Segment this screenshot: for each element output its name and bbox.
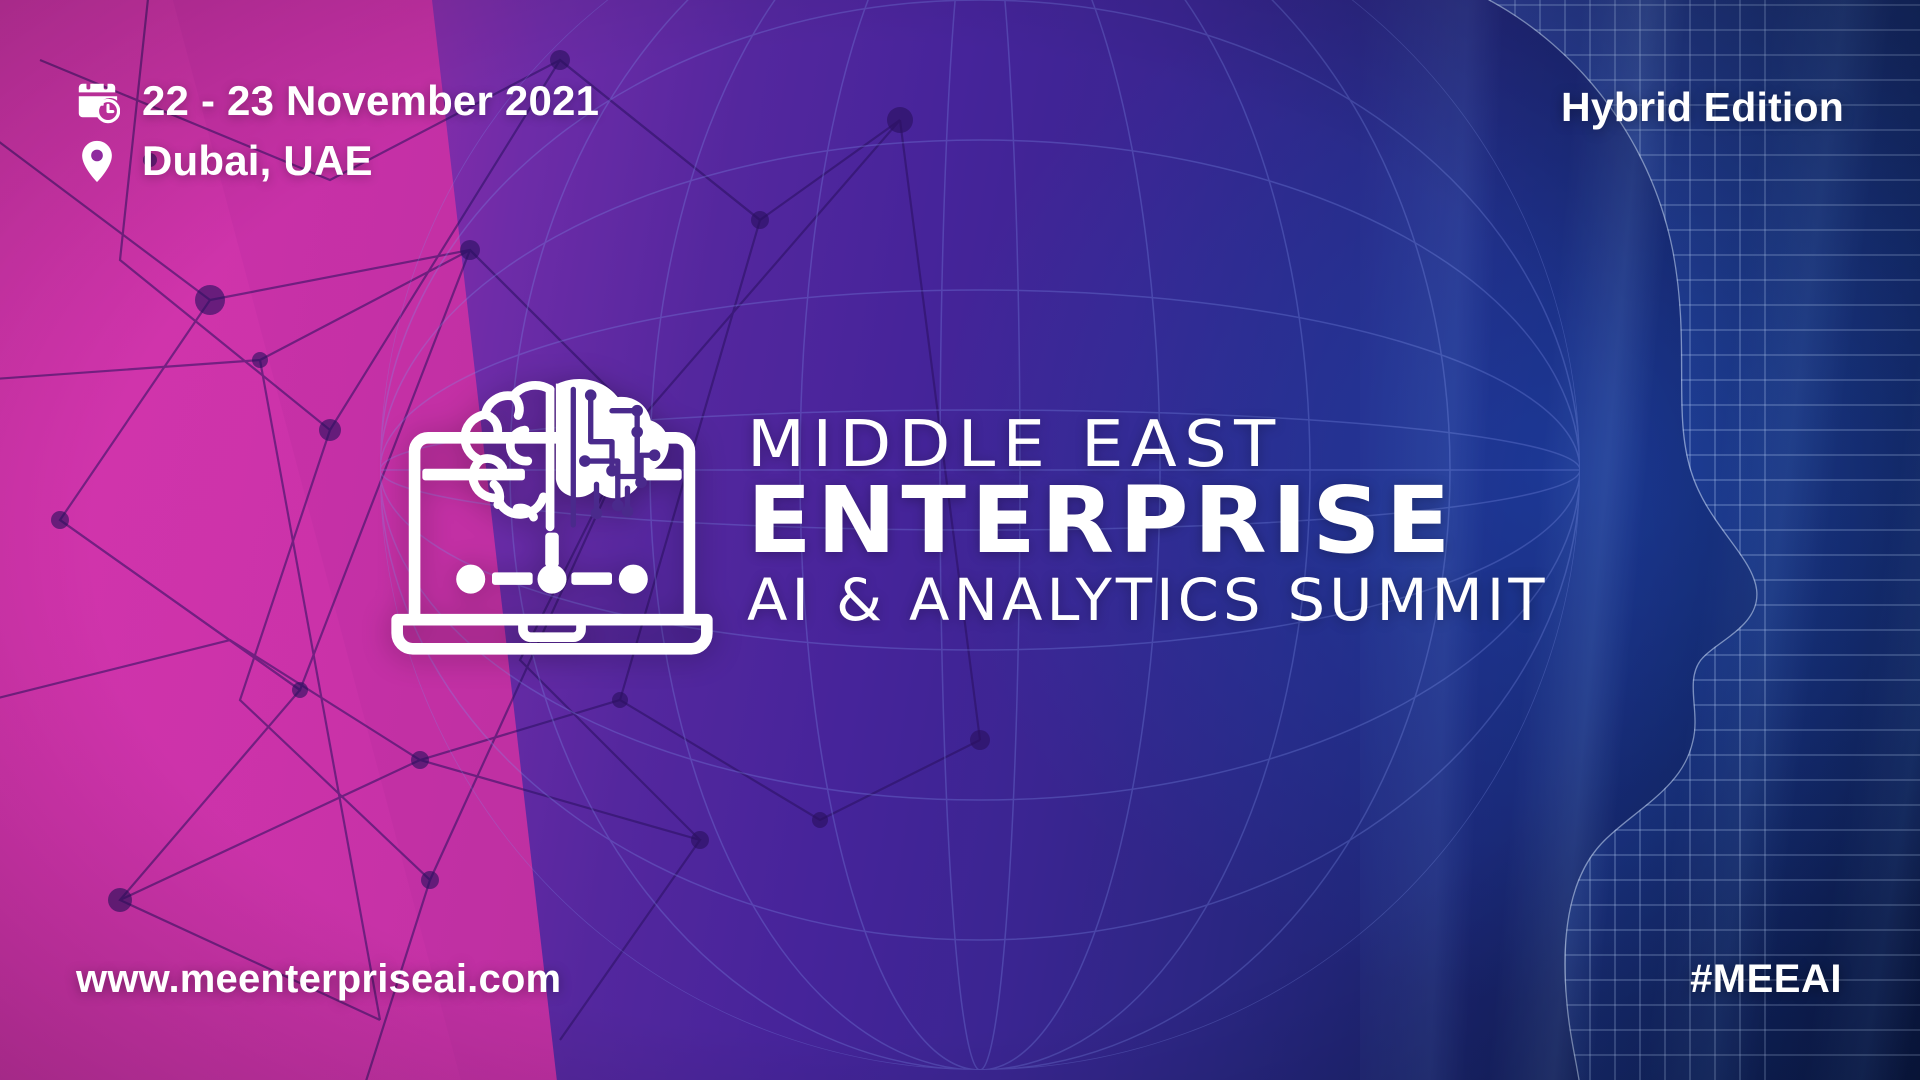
event-date: 22 - 23 November 2021	[142, 80, 599, 122]
laptop-ai-brain-icon	[387, 372, 717, 672]
wordmark-line-3: AI & ANALYTICS SUMMIT	[747, 569, 1549, 632]
website-url[interactable]: www.meenterpriseai.com	[76, 957, 561, 1002]
event-date-row: 22 - 23 November 2021	[74, 78, 599, 124]
event-info-block: 22 - 23 November 2021 Dubai, UAE	[74, 78, 599, 198]
event-banner: 22 - 23 November 2021 Dubai, UAE Hybrid …	[0, 0, 1920, 1080]
event-hashtag: #MEEAI	[1690, 957, 1842, 1002]
event-location-row: Dubai, UAE	[74, 138, 599, 184]
calendar-clock-icon	[74, 78, 120, 124]
event-location: Dubai, UAE	[142, 140, 373, 182]
logo-lockup: MIDDLE EAST ENTERPRISE AI & ANALYTICS SU…	[0, 372, 1920, 672]
wordmark-line-2: ENTERPRISE	[747, 475, 1556, 567]
edition-label: Hybrid Edition	[1561, 84, 1844, 131]
event-wordmark: MIDDLE EAST ENTERPRISE AI & ANALYTICS SU…	[747, 412, 1533, 631]
map-pin-icon	[74, 138, 120, 184]
